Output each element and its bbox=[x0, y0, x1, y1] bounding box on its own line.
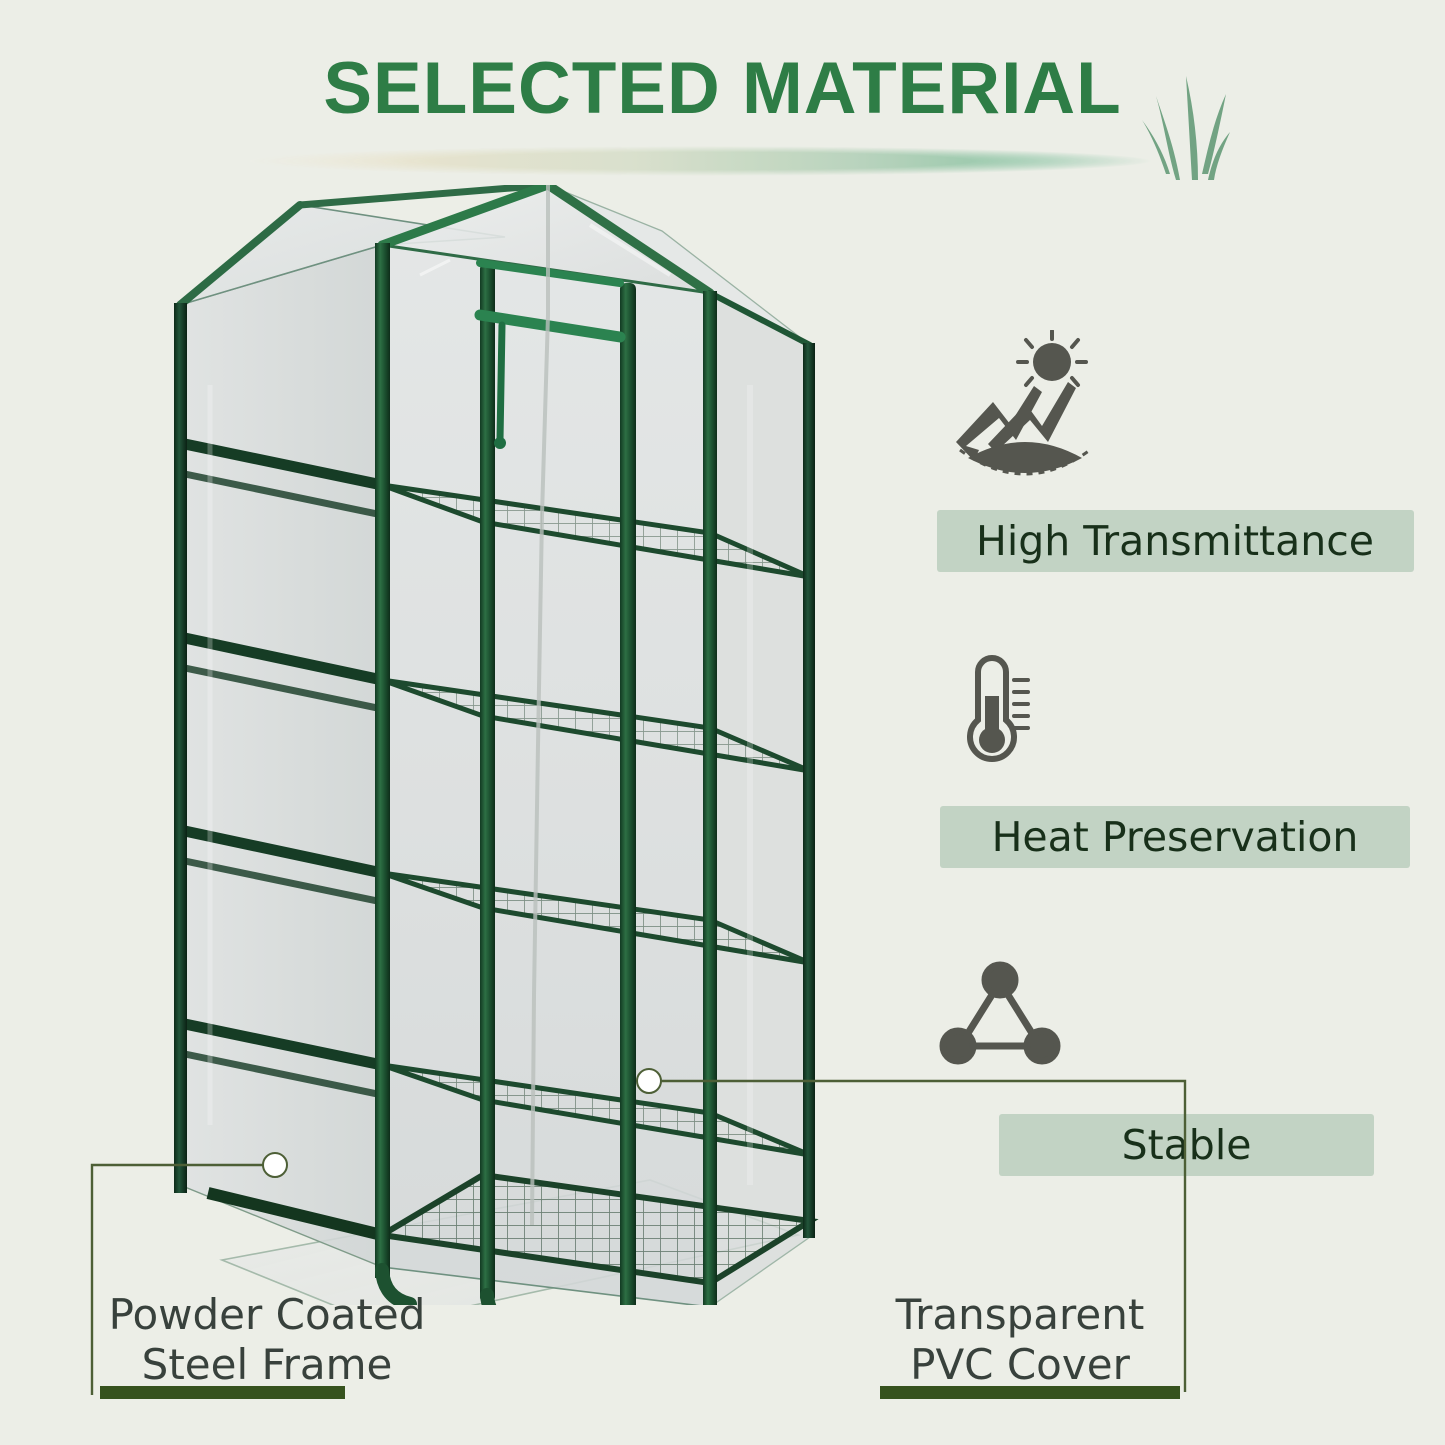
callout-label-steel-frame: Powder Coated Steel Frame bbox=[92, 1290, 442, 1389]
title-underline-swoosh bbox=[248, 146, 1153, 176]
thermometer-icon bbox=[930, 652, 1420, 776]
feature-high-transmittance: High Transmittance bbox=[930, 330, 1420, 572]
page-title: SELECTED MATERIAL bbox=[323, 52, 1121, 125]
grass-icon bbox=[1138, 62, 1248, 182]
feature-label-stable: Stable bbox=[999, 1114, 1374, 1176]
triangle-stability-icon bbox=[930, 960, 1420, 1074]
feature-stable: Stable bbox=[930, 960, 1420, 1176]
callout-dot-pvc-cover bbox=[636, 1068, 662, 1094]
feature-heat-preservation: Heat Preservation bbox=[930, 652, 1420, 868]
light-transmittance-icon bbox=[930, 330, 1420, 484]
product-image-greenhouse bbox=[150, 185, 870, 1305]
feature-list: High Transmittance Heat Preservation bbox=[930, 330, 1420, 1176]
infographic-canvas: SELECTED MATERIAL bbox=[0, 0, 1445, 1445]
feature-label-heat-preservation: Heat Preservation bbox=[940, 806, 1410, 868]
callout-dot-steel-frame bbox=[262, 1152, 288, 1178]
feature-label-high-transmittance: High Transmittance bbox=[937, 510, 1414, 572]
callout-label-pvc-cover: Transparent PVC Cover bbox=[855, 1290, 1185, 1389]
